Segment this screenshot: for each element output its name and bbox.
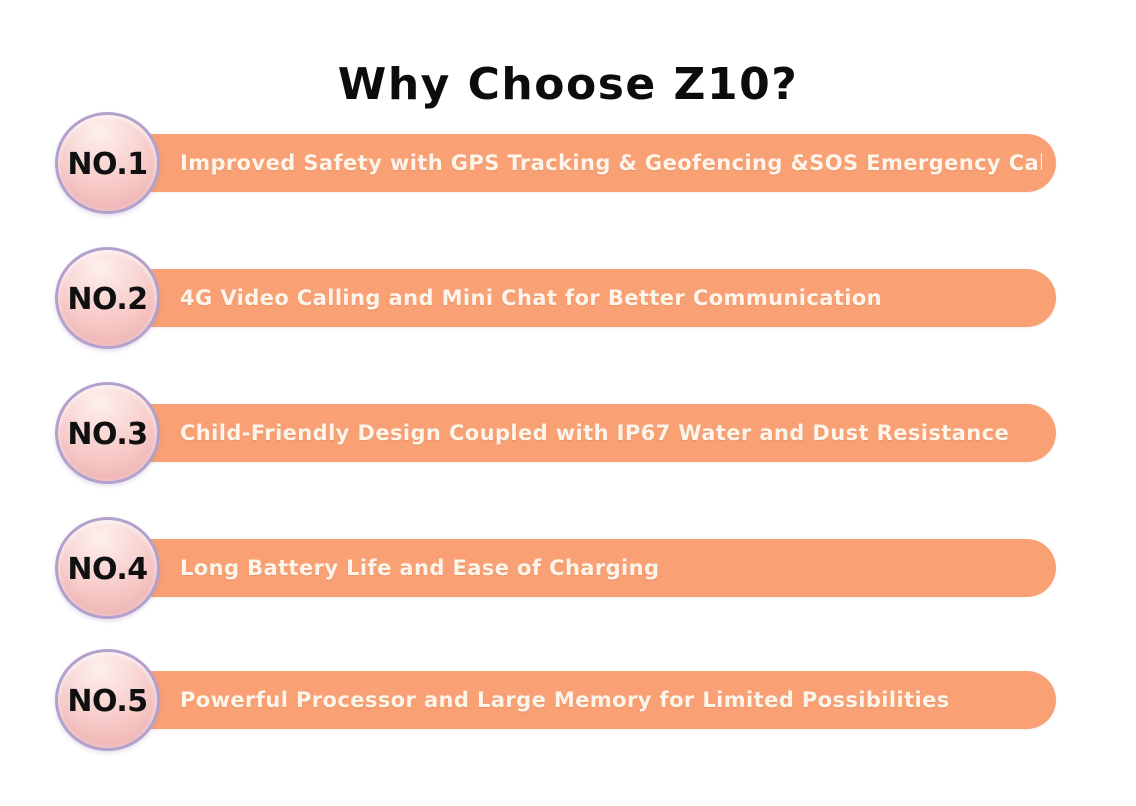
feature-bar: Long Battery Life and Ease of Charging xyxy=(112,539,1056,597)
feature-bar: 4G Video Calling and Mini Chat for Bette… xyxy=(112,269,1056,327)
feature-bar: Child-Friendly Design Coupled with IP67 … xyxy=(112,404,1056,462)
feature-number-label: NO.4 xyxy=(67,552,147,587)
feature-row: 4G Video Calling and Mini Chat for Bette… xyxy=(0,243,1136,353)
feature-list: Improved Safety with GPS Tracking & Geof… xyxy=(0,0,1136,806)
feature-number-label: NO.2 xyxy=(67,282,147,317)
feature-row: Child-Friendly Design Coupled with IP67 … xyxy=(0,378,1136,488)
feature-number-badge: NO.3 xyxy=(55,382,160,484)
feature-number-badge: NO.1 xyxy=(55,112,160,214)
feature-row: Improved Safety with GPS Tracking & Geof… xyxy=(0,108,1136,218)
feature-bar: Improved Safety with GPS Tracking & Geof… xyxy=(112,134,1056,192)
feature-text: Powerful Processor and Large Memory for … xyxy=(180,671,1042,729)
feature-row: Powerful Processor and Large Memory for … xyxy=(0,645,1136,755)
feature-number-label: NO.1 xyxy=(67,147,147,182)
feature-text: Child-Friendly Design Coupled with IP67 … xyxy=(180,404,1042,462)
feature-text: Long Battery Life and Ease of Charging xyxy=(180,539,1042,597)
feature-number-label: NO.3 xyxy=(67,417,147,452)
feature-number-badge: NO.2 xyxy=(55,247,160,349)
feature-row: Long Battery Life and Ease of Charging N… xyxy=(0,513,1136,623)
feature-bar: Powerful Processor and Large Memory for … xyxy=(112,671,1056,729)
feature-number-badge: NO.4 xyxy=(55,517,160,619)
feature-number-label: NO.5 xyxy=(67,684,147,719)
feature-text: 4G Video Calling and Mini Chat for Bette… xyxy=(180,269,1042,327)
feature-text: Improved Safety with GPS Tracking & Geof… xyxy=(180,134,1042,192)
feature-number-badge: NO.5 xyxy=(55,649,160,751)
